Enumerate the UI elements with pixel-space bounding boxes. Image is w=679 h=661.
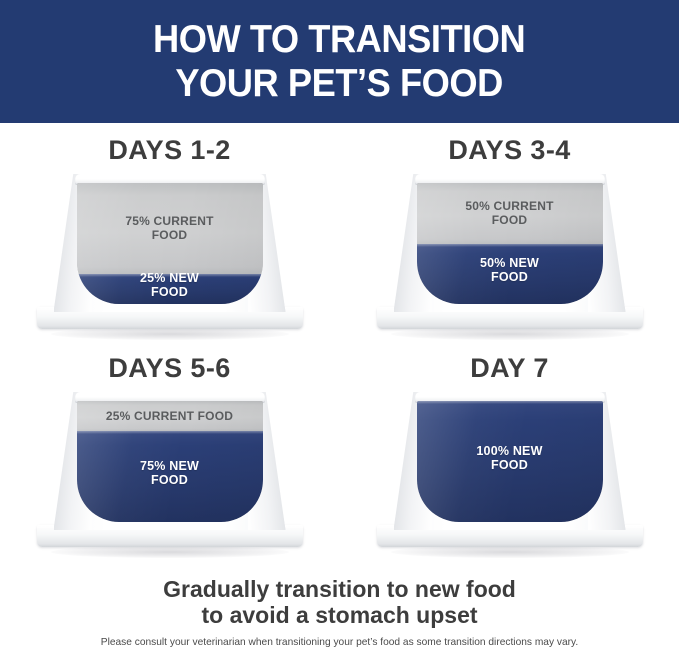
bowl-food-well: 75% CURRENT FOOD 25% NEW FOOD <box>77 183 263 304</box>
transition-steps-grid: DAYS 1-2 75% CURRENT FOOD 25% NEW FOOD D… <box>0 131 679 566</box>
transition-step-card-2: DAYS 3-4 50% CURRENT FOOD 50% NEW FOOD <box>340 131 679 348</box>
new-food-label: 100% NEW FOOD <box>417 444 603 472</box>
transition-step-card-1: DAYS 1-2 75% CURRENT FOOD 25% NEW FOOD <box>0 131 339 348</box>
footer-tagline: Gradually transition to new food to avoi… <box>0 576 679 628</box>
step-day-label: DAYS 3-4 <box>340 135 679 166</box>
pet-food-bowl: 100% NEW FOOD <box>377 392 643 555</box>
bowl-food-well: 50% CURRENT FOOD 50% NEW FOOD <box>417 183 603 304</box>
step-day-label: DAY 7 <box>340 353 679 384</box>
bowl-food-well: 100% NEW FOOD <box>417 401 603 522</box>
footer-disclaimer: Please consult your veterinarian when tr… <box>10 636 669 648</box>
header-title-line-1: HOW TO TRANSITION <box>153 18 525 62</box>
tagline-line-1: Gradually transition to new food <box>0 576 679 602</box>
transition-step-card-4: DAY 7 100% NEW FOOD <box>340 349 679 566</box>
current-food-label: 75% CURRENT FOOD <box>77 214 263 242</box>
header-title-line-2: YOUR PET’S FOOD <box>176 62 504 106</box>
bowl-shadow <box>51 328 289 340</box>
new-food-label: 50% NEW FOOD <box>417 256 603 284</box>
transition-step-card-3: DAYS 5-6 25% CURRENT FOOD 75% NEW FOOD <box>0 349 339 566</box>
bowl-food-well: 25% CURRENT FOOD 75% NEW FOOD <box>77 401 263 522</box>
bowl-shadow <box>391 328 629 340</box>
pet-food-bowl: 75% CURRENT FOOD 25% NEW FOOD <box>37 174 303 337</box>
pet-food-bowl: 50% CURRENT FOOD 50% NEW FOOD <box>377 174 643 337</box>
tagline-line-2: to avoid a stomach upset <box>0 602 679 628</box>
header-banner: HOW TO TRANSITION YOUR PET’S FOOD <box>0 0 679 123</box>
pet-food-bowl: 25% CURRENT FOOD 75% NEW FOOD <box>37 392 303 555</box>
current-food-label: 50% CURRENT FOOD <box>417 199 603 227</box>
new-food-label: 75% NEW FOOD <box>77 459 263 487</box>
bowl-shadow <box>391 546 629 558</box>
bowl-shadow <box>51 546 289 558</box>
new-food-label: 25% NEW FOOD <box>77 271 263 299</box>
step-day-label: DAYS 5-6 <box>0 353 339 384</box>
step-day-label: DAYS 1-2 <box>0 135 339 166</box>
current-food-label: 25% CURRENT FOOD <box>77 409 263 423</box>
